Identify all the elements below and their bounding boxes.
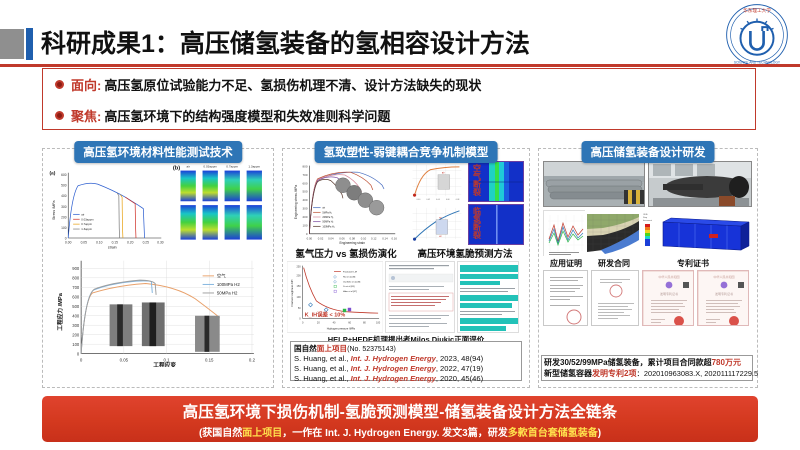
svg-text:ODB:: ODB:: [643, 214, 648, 216]
summary-line-2: 新型储氢容器发明专利2项：202010963083.X, 20201111722…: [544, 368, 750, 379]
title-grey-bar: [0, 29, 24, 59]
fracture-photo-inset: [110, 302, 220, 351]
bullet-key-2: 聚焦:: [71, 106, 101, 125]
chart-air-curve: air 0.000.020.040.060.08: [408, 161, 466, 202]
svg-text:发明专利证书: 发明专利证书: [715, 291, 733, 296]
fem-container-model: ODB:StepIncrement: [641, 210, 753, 256]
svg-text:200: 200: [296, 274, 301, 277]
panels-container: 高压氢环境材料性能测试技术 (a) 0100200 300400500600: [42, 148, 758, 388]
svg-text:600: 600: [72, 295, 80, 300]
svg-text:150: 150: [296, 285, 301, 288]
caption-left: 氢气压力 vs 氢损伤演化: [287, 246, 405, 260]
svg-text:0.00: 0.00: [416, 199, 420, 201]
paper-0-authors: S. Huang, et al.,: [294, 354, 348, 363]
svg-text:Fracture toughness KIH: Fracture toughness KIH: [291, 280, 294, 307]
svg-text:air: air: [441, 172, 444, 175]
caption-right: 高压环境氢脆预测方法: [405, 246, 525, 260]
svg-text:0.25: 0.25: [143, 241, 150, 245]
svg-text:100: 100: [303, 223, 308, 227]
svg-text:0.04: 0.04: [328, 236, 334, 240]
page-title-row: 科研成果1：高压储氢装备的氢相容设计方法: [0, 26, 760, 62]
panel-2-header: 氢致塑性-弱键耦合竞争机制模型: [315, 141, 498, 163]
svg-text:100: 100: [376, 321, 381, 324]
svg-text:0.06: 0.06: [339, 236, 345, 240]
kic-annotation: K_IH误差 < 10%: [305, 311, 346, 319]
paper-0: S. Huang, et al., Int. J. Hydrogen Energ…: [294, 354, 518, 364]
svg-text:Stress /MPa: Stress /MPa: [52, 201, 56, 221]
patent-cert-2: 中华人民共和国 发明专利证书: [697, 270, 749, 326]
bullet-row-1: 面向: 高压氢原位试验能力不足、氢损伤机理不清、设计方法缺失的现状: [43, 69, 755, 100]
svg-text:0.02: 0.02: [426, 199, 430, 201]
svg-text:0.00: 0.00: [307, 236, 313, 240]
patent-cert-1: 中华人民共和国 发明专利证书: [642, 270, 694, 326]
svg-text:700: 700: [72, 285, 80, 290]
svg-text:0.7appm: 0.7appm: [227, 165, 239, 169]
chart-kic-prediction: 050100 150200250 02040 6080100 Fracture …: [287, 261, 383, 333]
svg-text:100: 100: [72, 342, 80, 347]
banner-line-2-hl1: 面上项目: [242, 428, 282, 439]
ref-project: 国自然面上项目(No. 52375143): [294, 344, 518, 354]
svg-text:0.14: 0.14: [382, 236, 388, 240]
fem-shell-mesh: [587, 210, 639, 256]
conclusion-banner: 高压氢环境下损伤机制-氢脆预测模型-储氢装备设计方法全链条 (获国自然面上项目，…: [42, 396, 758, 442]
svg-text:400: 400: [61, 194, 67, 198]
fem-map-hydrogen: 临氢断裂: [468, 204, 524, 245]
svg-text:200: 200: [303, 215, 308, 219]
bullet-dot-icon: [55, 80, 64, 89]
paper-1-journal: Int. J. Hydrogen Energy: [351, 364, 436, 373]
legend-c-4: 100MPa H₂: [322, 225, 334, 228]
svg-text:1.3appm: 1.3appm: [249, 165, 261, 169]
summary-line-1-highlight: 780万元: [712, 358, 741, 367]
svg-text:中华人民共和国: 中华人民共和国: [658, 274, 679, 279]
svg-text:0.1: 0.1: [164, 357, 171, 362]
panel-testing-tech: 高压氢环境材料性能测试技术 (a) 0100200 300400500600: [42, 148, 274, 388]
banner-line-1: 高压氢环境下损伤机制-氢脆预测模型-储氢装备设计方法全链条: [183, 400, 618, 422]
chart-stress-profile: [543, 210, 585, 256]
summary-line-2-highlight: 发明专利2项: [592, 369, 636, 378]
legend-c-1: 5MPa H₂: [322, 211, 332, 214]
summary-line-1-text: 研发30/52/99MPa储氢装备，累计项目合同款超: [544, 358, 712, 367]
page-title: 科研成果1：高压储氢装备的氢相容设计方法: [41, 32, 530, 57]
svg-text:0.30: 0.30: [157, 241, 164, 245]
bullet-value-1: 高压氢原位试验能力不足、氢损伤机理不清、设计方法缺失的现状: [104, 75, 481, 94]
cert-label-2: 专利证书: [639, 258, 747, 269]
svg-text:0.10: 0.10: [361, 236, 367, 240]
svg-text:0.03appm: 0.03appm: [204, 165, 218, 169]
panel-3-header: 高压储氢装备设计研发: [582, 141, 715, 163]
svg-text:0.15: 0.15: [205, 357, 214, 362]
panel-3-body: ODB:StepIncrement: [543, 161, 753, 383]
paper-0-rest: , 2023, 48(94): [436, 354, 483, 363]
svg-text:0.04: 0.04: [436, 199, 440, 201]
reviewer-comment-screenshot: [385, 261, 455, 333]
kic-legend-2: Ouellette et al [49]: [343, 280, 361, 283]
chart-stress-strain-a: (a) 0100200 300400500600 0.000.050.10 0.…: [47, 161, 169, 253]
svg-text:0.06: 0.06: [445, 199, 449, 201]
summary-line-1: 研发30/52/99MPa储氢装备，累计项目合同款超780万元: [544, 357, 750, 368]
panel-2-body: 0100200 300400500 600700800 0.000.020.04…: [287, 161, 525, 383]
svg-text:0.05: 0.05: [81, 241, 88, 245]
slide-root: 华东理工大学 SCIENCE AND TECHNOLOGY 科研成果1：高压储氢…: [0, 0, 800, 450]
paper-2: S. Huang, et al., Int. J. Hydrogen Energ…: [294, 374, 518, 384]
svg-text:100: 100: [296, 296, 301, 299]
svg-text:0: 0: [77, 352, 80, 357]
ref-project-tail: (No. 52375143): [347, 346, 396, 353]
svg-text:0: 0: [80, 357, 83, 362]
bullet-value-2: 高压氢环境下的结构强度模型和失效准则科学问题: [104, 106, 390, 125]
legend-c-0: air: [322, 207, 325, 210]
fem-map-air: 空气断裂: [468, 161, 524, 202]
legend-a-2: 0.7appm: [81, 222, 92, 226]
svg-text:400: 400: [72, 314, 80, 319]
svg-text:Hydrogen pressure /MPa: Hydrogen pressure /MPa: [327, 327, 356, 330]
ref-project-lead: 国自然: [294, 344, 317, 353]
chart-h2-pressure-damage: 0100200 300400500 600700800 0.000.020.04…: [287, 161, 405, 245]
green-document-screenshot: [457, 261, 519, 333]
summary-line-2-text: 新型储氢容器: [544, 369, 592, 378]
svg-text:100: 100: [61, 226, 67, 230]
svg-text:0.05: 0.05: [120, 357, 129, 362]
legend-a-0: air: [81, 212, 84, 216]
cert-application-proof: [543, 270, 588, 326]
svg-text:0.10: 0.10: [96, 241, 103, 245]
svg-text:300: 300: [72, 323, 80, 328]
legend-b-0: 空气: [217, 272, 226, 278]
title-blue-bar: [26, 28, 33, 60]
svg-text:500: 500: [61, 184, 67, 188]
panel-1-header: 高压氢环境材料性能测试技术: [74, 141, 242, 163]
svg-text:Increment: Increment: [643, 219, 652, 222]
chart-h2-curve: H2 H2: [408, 204, 466, 245]
svg-text:0.2: 0.2: [249, 357, 256, 362]
svg-text:700: 700: [303, 173, 308, 177]
cert-label-0: 应用证明: [543, 258, 589, 269]
banner-line-2-b: ，一作在 Int. J. Hydrogen Energy. 发文3篇，研发: [282, 428, 507, 439]
paper-2-rest: , 2020, 45(46): [436, 374, 483, 383]
svg-text:strain: strain: [108, 246, 117, 250]
legend-a-3: 1.3appm: [81, 227, 92, 231]
bullet-key-1: 面向:: [71, 75, 101, 94]
title-underline: [0, 64, 800, 67]
kic-legend-4: Hibar et al [67]: [343, 290, 357, 293]
svg-text:0.00: 0.00: [65, 241, 72, 245]
svg-text:600: 600: [303, 181, 308, 185]
bullet-row-2: 聚焦: 高压氢环境下的结构强度模型和失效准则科学问题: [43, 100, 755, 131]
svg-text:300: 300: [303, 207, 308, 211]
svg-text:0.15: 0.15: [112, 241, 119, 245]
svg-text:0.08: 0.08: [455, 199, 459, 201]
legend-c-3: 50MPa H₂: [322, 221, 333, 224]
banner-line-2: (获国自然面上项目，一作在 Int. J. Hydrogen Energy. 发…: [199, 424, 601, 439]
fem-specimens-b: (b) air0.03appm0.7appm1.3appm: [171, 161, 269, 253]
legend-b-1: 100MPa H2: [217, 282, 241, 287]
svg-text:Engineering stress /MPa: Engineering stress /MPa: [294, 185, 298, 220]
svg-text:air: air: [187, 165, 190, 169]
paper-2-authors: S. Huang, et al.,: [294, 374, 348, 383]
paper-1: S. Huang, et al., Int. J. Hydrogen Energ…: [294, 364, 518, 374]
svg-text:800: 800: [303, 165, 308, 169]
summary-line-2-numbers: ：202010963083.X, 202011117229.5: [636, 369, 758, 378]
fem-label-h2: 临氢断裂: [472, 207, 483, 239]
svg-text:500: 500: [72, 304, 80, 309]
cert-rd-contract: [591, 270, 639, 326]
chart-eng-stress-strain: 0100200 300400500 600700800900 00.050.1 …: [47, 255, 269, 367]
panel-equipment-dev: 高压储氢装备设计研发: [538, 148, 758, 388]
svg-text:0.08: 0.08: [350, 236, 356, 240]
legend-b-2: 50MPa H2: [217, 290, 238, 295]
references-box: 国自然面上项目(No. 52375143) S. Huang, et al., …: [290, 341, 522, 381]
cert-label-1: 研发合同: [589, 258, 639, 269]
panel-1-body: (a) 0100200 300400500600 0.000.050.10 0.…: [47, 161, 269, 383]
svg-text:900: 900: [72, 266, 80, 271]
paper-2-journal: Int. J. Hydrogen Energy: [351, 374, 436, 383]
ylabel-eng-stress: 工程应力 /MPa: [56, 292, 64, 330]
kic-legend-3: Cu et al [69]: [343, 285, 355, 288]
svg-text:0.12: 0.12: [371, 236, 377, 240]
banner-line-2-c: ): [598, 428, 601, 439]
svg-text:发明专利证书: 发明专利证书: [660, 291, 678, 296]
svg-text:500: 500: [303, 190, 308, 194]
bullet-dot-icon: [55, 111, 64, 120]
svg-text:600: 600: [61, 173, 67, 177]
svg-text:250: 250: [296, 266, 301, 269]
svg-text:200: 200: [72, 333, 80, 338]
banner-line-2-a: (获国自然: [199, 428, 242, 439]
banner-line-2-hl2: 多款首台套储氢装备: [508, 428, 598, 439]
kic-legend-1: Hisi et al [49]: [343, 275, 356, 278]
svg-text:0.02: 0.02: [318, 236, 324, 240]
svg-text:0.16: 0.16: [392, 236, 398, 240]
svg-text:Engineering strain: Engineering strain: [340, 241, 366, 245]
panel-mechanism-model: 氢致塑性-弱键耦合竞争机制模型 0100200 300400500 600700…: [282, 148, 530, 388]
kic-legend-0: Predicted K_IH: [343, 271, 358, 274]
equipment-summary-box: 研发30/52/99MPa储氢装备，累计项目合同款超780万元 新型储氢容器发明…: [541, 355, 753, 381]
svg-text:(a): (a): [49, 170, 55, 176]
paper-1-authors: S. Huang, et al.,: [294, 364, 348, 373]
svg-text:200: 200: [61, 215, 67, 219]
paper-0-journal: Int. J. Hydrogen Energy: [351, 354, 436, 363]
svg-text:(b): (b): [173, 166, 180, 172]
svg-text:0.20: 0.20: [127, 241, 134, 245]
legend-a-1: 0.03appm: [81, 217, 94, 221]
svg-text:800: 800: [72, 276, 80, 281]
svg-text:华东理工大学: 华东理工大学: [743, 7, 771, 14]
paper-1-rest: , 2022, 47(19): [436, 364, 483, 373]
svg-text:中华人民共和国: 中华人民共和国: [713, 274, 734, 279]
ref-project-highlight: 面上项目: [317, 344, 347, 353]
svg-text:400: 400: [303, 198, 308, 202]
photo-vessel-workshop: [648, 161, 752, 207]
objective-box: 面向: 高压氢原位试验能力不足、氢损伤机理不清、设计方法缺失的现状 聚焦: 高压…: [42, 68, 756, 130]
legend-c-2: 20MPa H₂: [322, 216, 333, 219]
photo-vessel-outdoor: [543, 161, 645, 207]
svg-text:300: 300: [61, 205, 67, 209]
fem-label-air: 空气断裂: [472, 164, 483, 196]
